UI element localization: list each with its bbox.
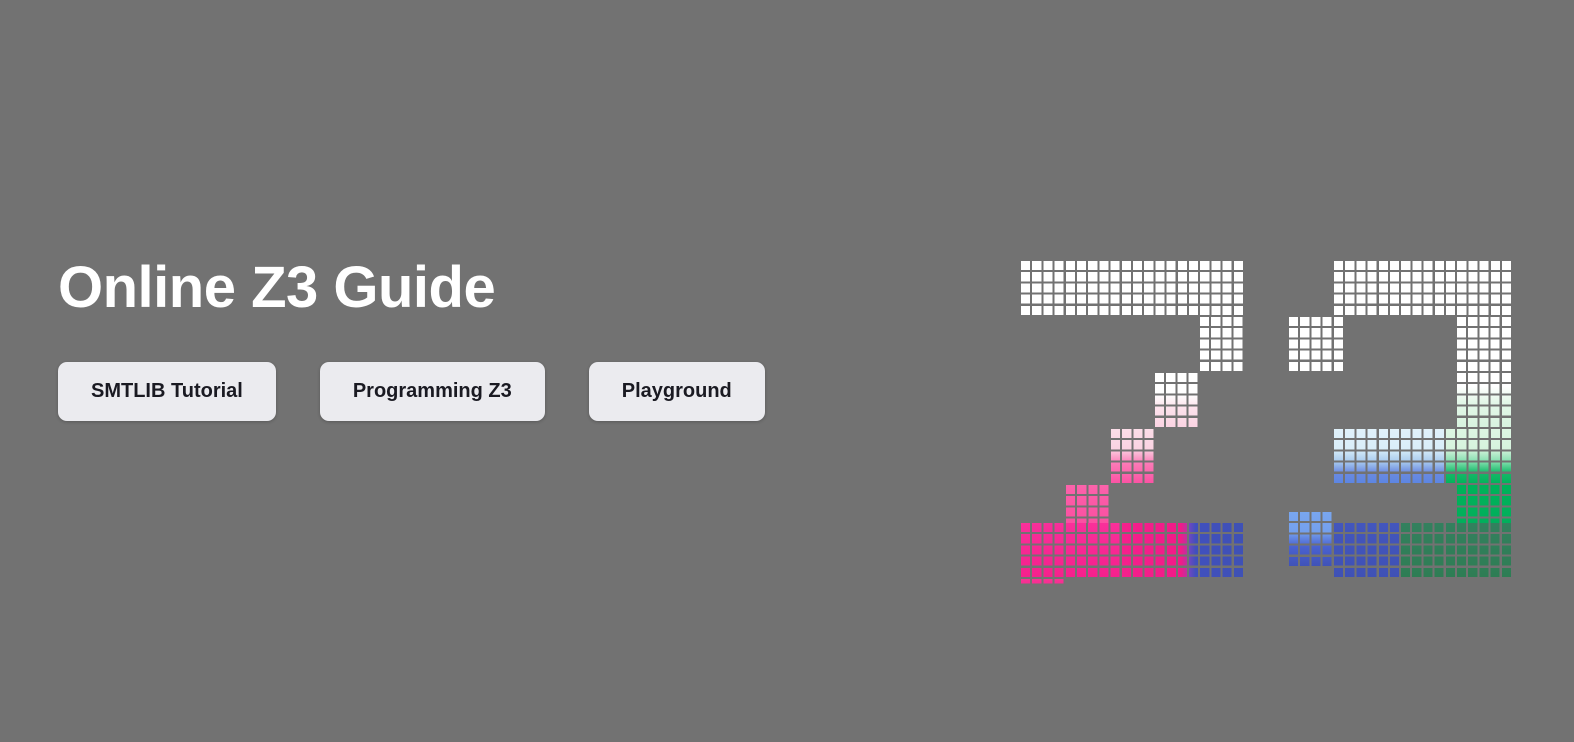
logo-glyph-3 <box>1289 261 1513 579</box>
z3-logo <box>1021 261 1513 579</box>
page-title: Online Z3 Guide <box>58 258 958 319</box>
z-top-bar <box>1021 261 1245 317</box>
smtlib-tutorial-button[interactable]: SMTLIB Tutorial <box>58 362 276 421</box>
nav-button-group: SMTLIB Tutorial Programming Z3 Playgroun… <box>58 362 958 421</box>
programming-z3-button[interactable]: Programming Z3 <box>320 362 545 421</box>
three-lower-left-nub <box>1289 512 1334 568</box>
z-step-1 <box>1200 317 1245 373</box>
three-top-bar <box>1334 261 1513 317</box>
three-middle-bar-green <box>1446 429 1513 485</box>
three-middle-bar-blue <box>1334 429 1446 485</box>
three-bottom-bar-green <box>1401 523 1513 579</box>
z-bottom-bar-pink-right <box>1122 523 1189 579</box>
z-step-3 <box>1111 429 1156 485</box>
logo-glyph-z <box>1021 261 1247 579</box>
three-bottom-bar-blue <box>1334 523 1401 579</box>
three-upper-left-nub <box>1289 317 1345 373</box>
three-upper-right-stroke <box>1457 317 1513 429</box>
z-step-2 <box>1155 373 1200 429</box>
z-bottom-bar-pink <box>1021 523 1122 579</box>
hero-section: Online Z3 Guide SMTLIB Tutorial Programm… <box>58 258 958 421</box>
playground-button[interactable]: Playground <box>589 362 765 421</box>
z-bottom-bar-blue <box>1189 523 1245 579</box>
